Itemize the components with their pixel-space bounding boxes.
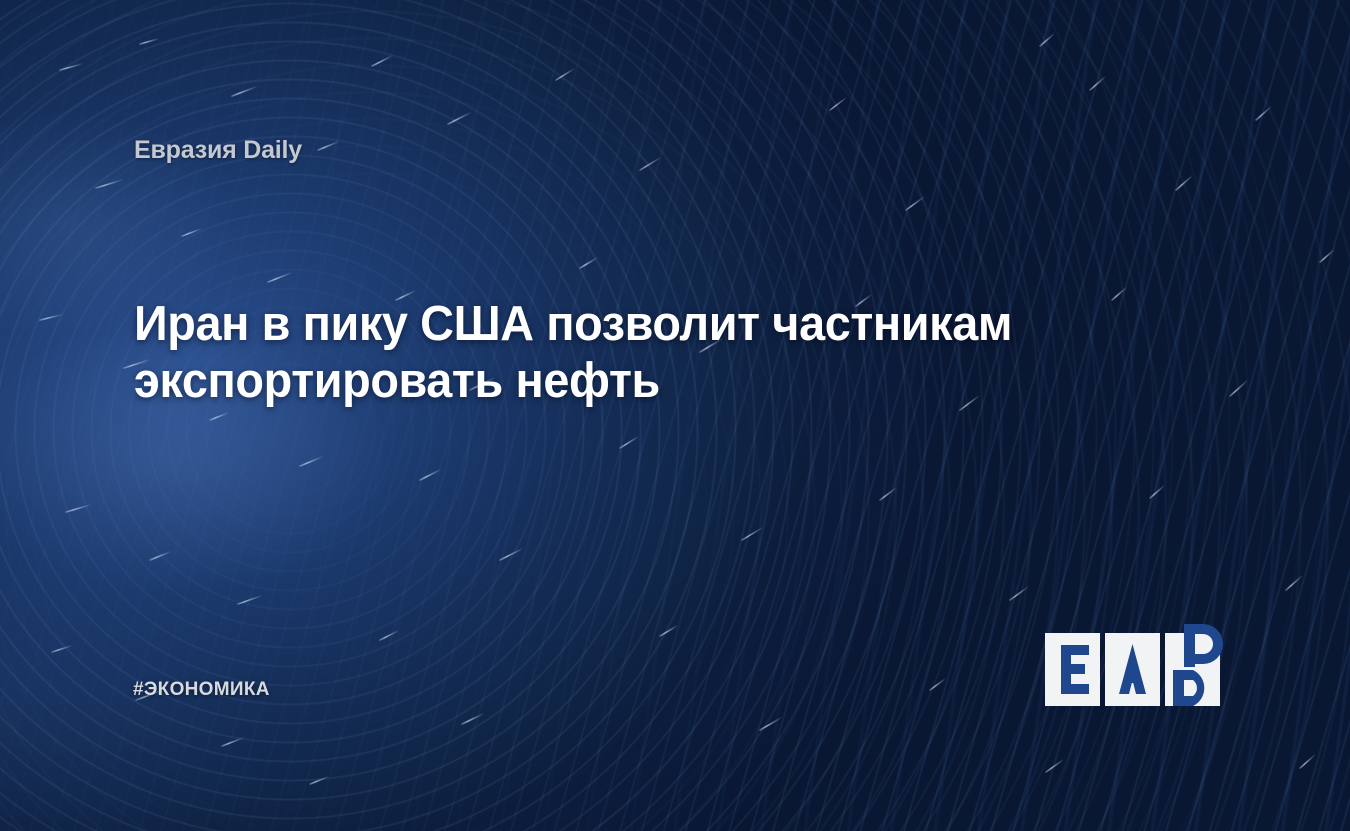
eadaily-logo[interactable] bbox=[1045, 624, 1225, 708]
page-title: Иран в пику США позволит частникам экспо… bbox=[134, 296, 1165, 411]
news-cover-card: Евразия Daily Иран в пику США позволит ч… bbox=[0, 0, 1350, 831]
site-brand-name[interactable]: Евразия Daily bbox=[134, 136, 302, 165]
category-tag-economics[interactable]: #ЭКОНОМИКА bbox=[133, 679, 270, 701]
eadaily-logo-icon bbox=[1045, 624, 1225, 708]
cover-content: Евразия Daily Иран в пику США позволит ч… bbox=[0, 0, 1350, 831]
